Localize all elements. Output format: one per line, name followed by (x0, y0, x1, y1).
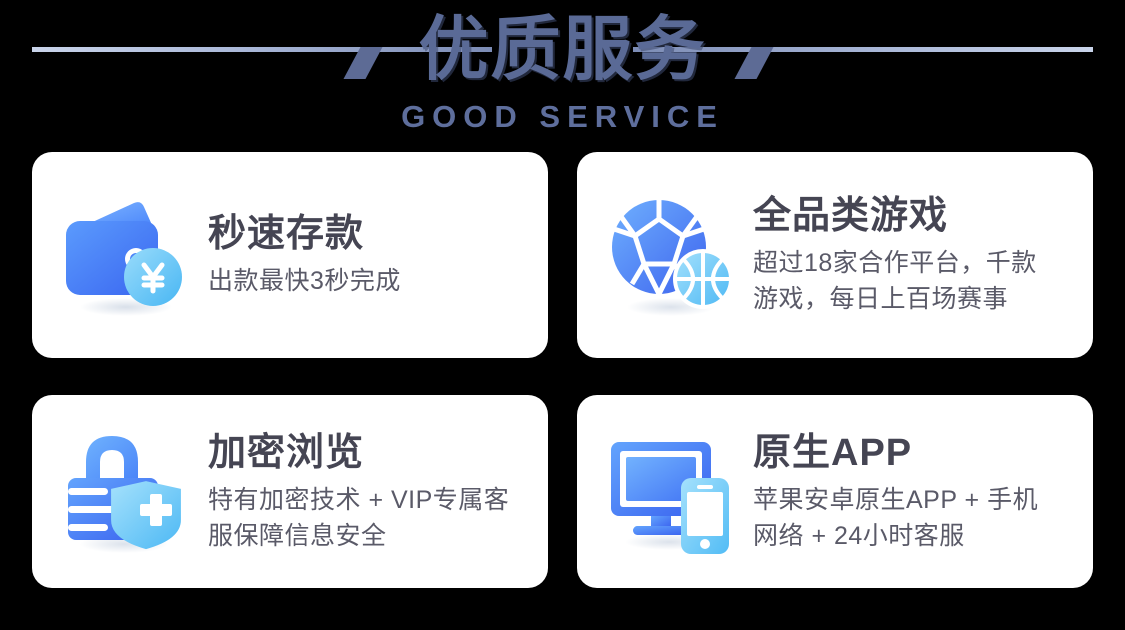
card-subtitle-line: 网络 + 24小时客服 (753, 518, 1071, 554)
page-subtitle: GOOD SERVICE (0, 100, 1125, 134)
card-subtitle: 超过18家合作平台，千款 游戏，每日上百场赛事 (753, 245, 1071, 317)
feature-card-grid: 秒速存款 出款最快3秒完成 (32, 152, 1093, 588)
page-title: 优质服务 (0, 8, 1125, 90)
card-title: 加密浏览 (208, 430, 526, 476)
card-subtitle: 特有加密技术 + VIP专属客 服保障信息安全 (208, 482, 526, 554)
card-subtitle-line: 游戏，每日上百场赛事 (753, 281, 1071, 317)
card-text-block: 秒速存款 出款最快3秒完成 (208, 211, 526, 299)
card-subtitle-line: 超过18家合作平台，千款 (753, 245, 1071, 281)
feature-card-encryption[interactable]: 加密浏览 特有加密技术 + VIP专属客 服保障信息安全 (32, 395, 548, 588)
card-subtitle-line: 特有加密技术 + VIP专属客 (208, 482, 526, 518)
card-text-block: 原生APP 苹果安卓原生APP + 手机 网络 + 24小时客服 (753, 430, 1071, 554)
promo-banner: 优质服务 GOOD SERVICE (0, 0, 1125, 630)
card-subtitle: 出款最快3秒完成 (208, 263, 526, 299)
card-title: 全品类游戏 (753, 193, 1071, 239)
wallet-yen-icon (60, 189, 192, 321)
card-title: 秒速存款 (208, 211, 526, 257)
card-text-block: 全品类游戏 超过18家合作平台，千款 游戏，每日上百场赛事 (753, 193, 1071, 317)
feature-card-deposit[interactable]: 秒速存款 出款最快3秒完成 (32, 152, 548, 358)
lock-shield-icon (60, 426, 192, 558)
feature-card-games[interactable]: 全品类游戏 超过18家合作平台，千款 游戏，每日上百场赛事 (577, 152, 1093, 358)
feature-card-native-app[interactable]: 原生APP 苹果安卓原生APP + 手机 网络 + 24小时客服 (577, 395, 1093, 588)
card-text-block: 加密浏览 特有加密技术 + VIP专属客 服保障信息安全 (208, 430, 526, 554)
banner-header: 优质服务 GOOD SERVICE (0, 0, 1125, 150)
card-subtitle-line: 出款最快3秒完成 (208, 263, 526, 299)
monitor-phone-icon (605, 426, 737, 558)
card-subtitle-line: 苹果安卓原生APP + 手机 (753, 482, 1071, 518)
soccer-basketball-icon (605, 189, 737, 321)
card-title: 原生APP (753, 430, 1071, 476)
card-subtitle-line: 服保障信息安全 (208, 518, 526, 554)
card-subtitle: 苹果安卓原生APP + 手机 网络 + 24小时客服 (753, 482, 1071, 554)
